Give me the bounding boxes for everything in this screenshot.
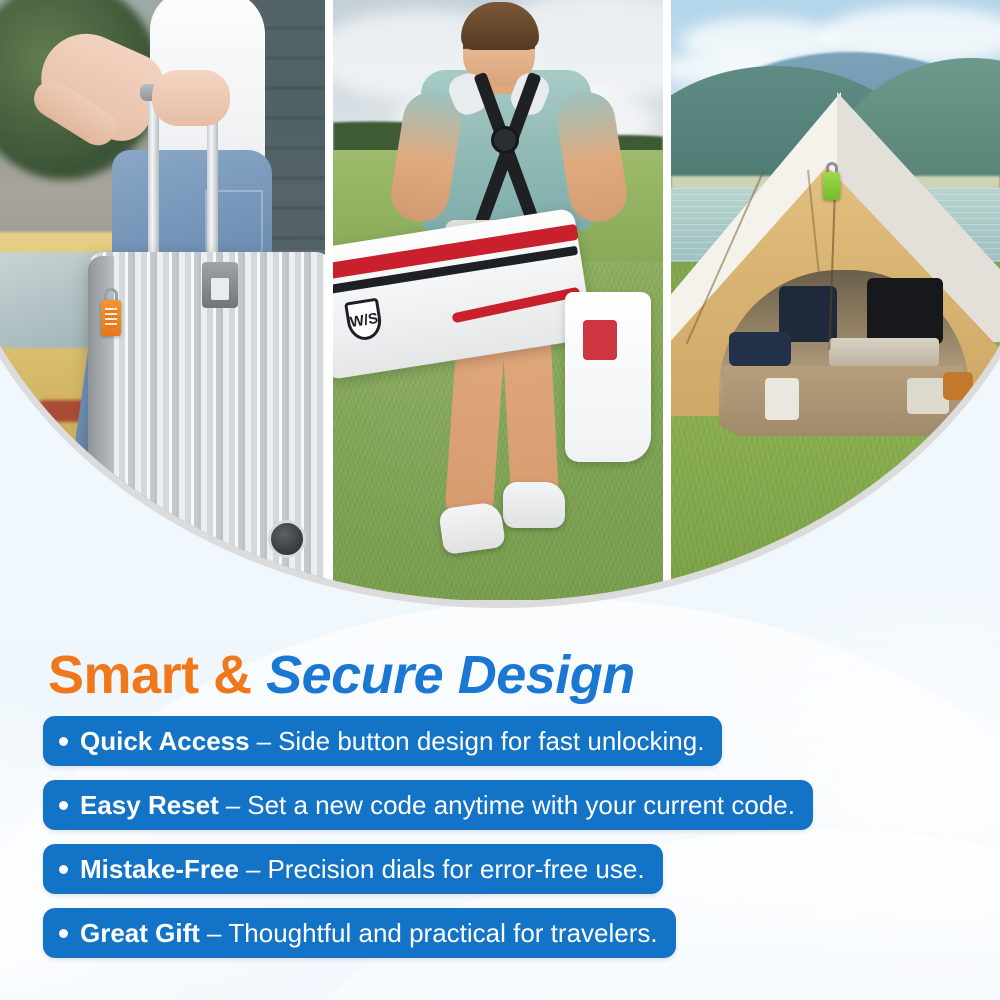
strap-buckle	[491, 126, 519, 154]
feature-term: Easy Reset	[80, 790, 219, 821]
blue-duffel-bag	[729, 332, 791, 366]
golf-towel	[565, 292, 651, 462]
feature-term: Great Gift	[80, 918, 200, 949]
feature-dash: –	[257, 726, 271, 757]
feature-term: Mistake-Free	[80, 854, 239, 885]
feature-term: Quick Access	[80, 726, 250, 757]
suitcase-wheel	[268, 520, 306, 558]
feature-dash: –	[246, 854, 260, 885]
feature-text: Set a new code anytime with your current…	[247, 790, 795, 821]
photo-tent	[671, 0, 1000, 600]
page-title-part-blue: Secure Design	[266, 645, 635, 705]
photo-suitcase	[0, 0, 325, 600]
hand-on-handle	[152, 70, 230, 126]
feature-pill-great-gift[interactable]: Great Gift – Thoughtful and practical fo…	[43, 908, 676, 958]
orange-combination-lock	[101, 300, 121, 336]
water-jug	[943, 372, 973, 400]
bullet-dot-icon	[59, 737, 68, 746]
left-golf-shoe	[438, 501, 506, 555]
white-storage-bag	[765, 378, 799, 420]
right-golf-shoe	[503, 482, 565, 528]
feature-pill-easy-reset[interactable]: Easy Reset – Set a new code anytime with…	[43, 780, 813, 830]
feature-pill-quick-access[interactable]: Quick Access – Side button design for fa…	[43, 716, 722, 766]
camp-chair-right	[867, 278, 943, 344]
luggage-handle-left-rod	[148, 96, 159, 266]
suitcase-latch	[202, 262, 238, 308]
feature-list: Quick Access – Side button design for fa…	[43, 716, 813, 958]
bullet-dot-icon	[59, 929, 68, 938]
feature-text: Side button design for fast unlocking.	[278, 726, 704, 757]
feature-text: Precision dials for error-free use.	[267, 854, 644, 885]
page-title-part-orange: Smart &	[48, 645, 252, 705]
bullet-dot-icon	[59, 865, 68, 874]
feature-dash: –	[226, 790, 240, 821]
bullet-dot-icon	[59, 801, 68, 810]
hero-photo-collage: W/S	[0, 0, 1000, 600]
photo-golfer: W/S	[333, 0, 663, 600]
feature-text: Thoughtful and practical for travelers.	[228, 918, 657, 949]
infographic-canvas: W/S	[0, 0, 1000, 1000]
arc-clip: W/S	[0, 0, 1000, 601]
feature-dash: –	[207, 918, 221, 949]
page-title: Smart & Secure Design	[48, 644, 635, 706]
feature-pill-mistake-free[interactable]: Mistake-Free – Precision dials for error…	[43, 844, 663, 894]
camp-table	[829, 338, 939, 366]
green-combination-lock	[823, 172, 840, 200]
photo-strip: W/S	[0, 0, 1000, 600]
